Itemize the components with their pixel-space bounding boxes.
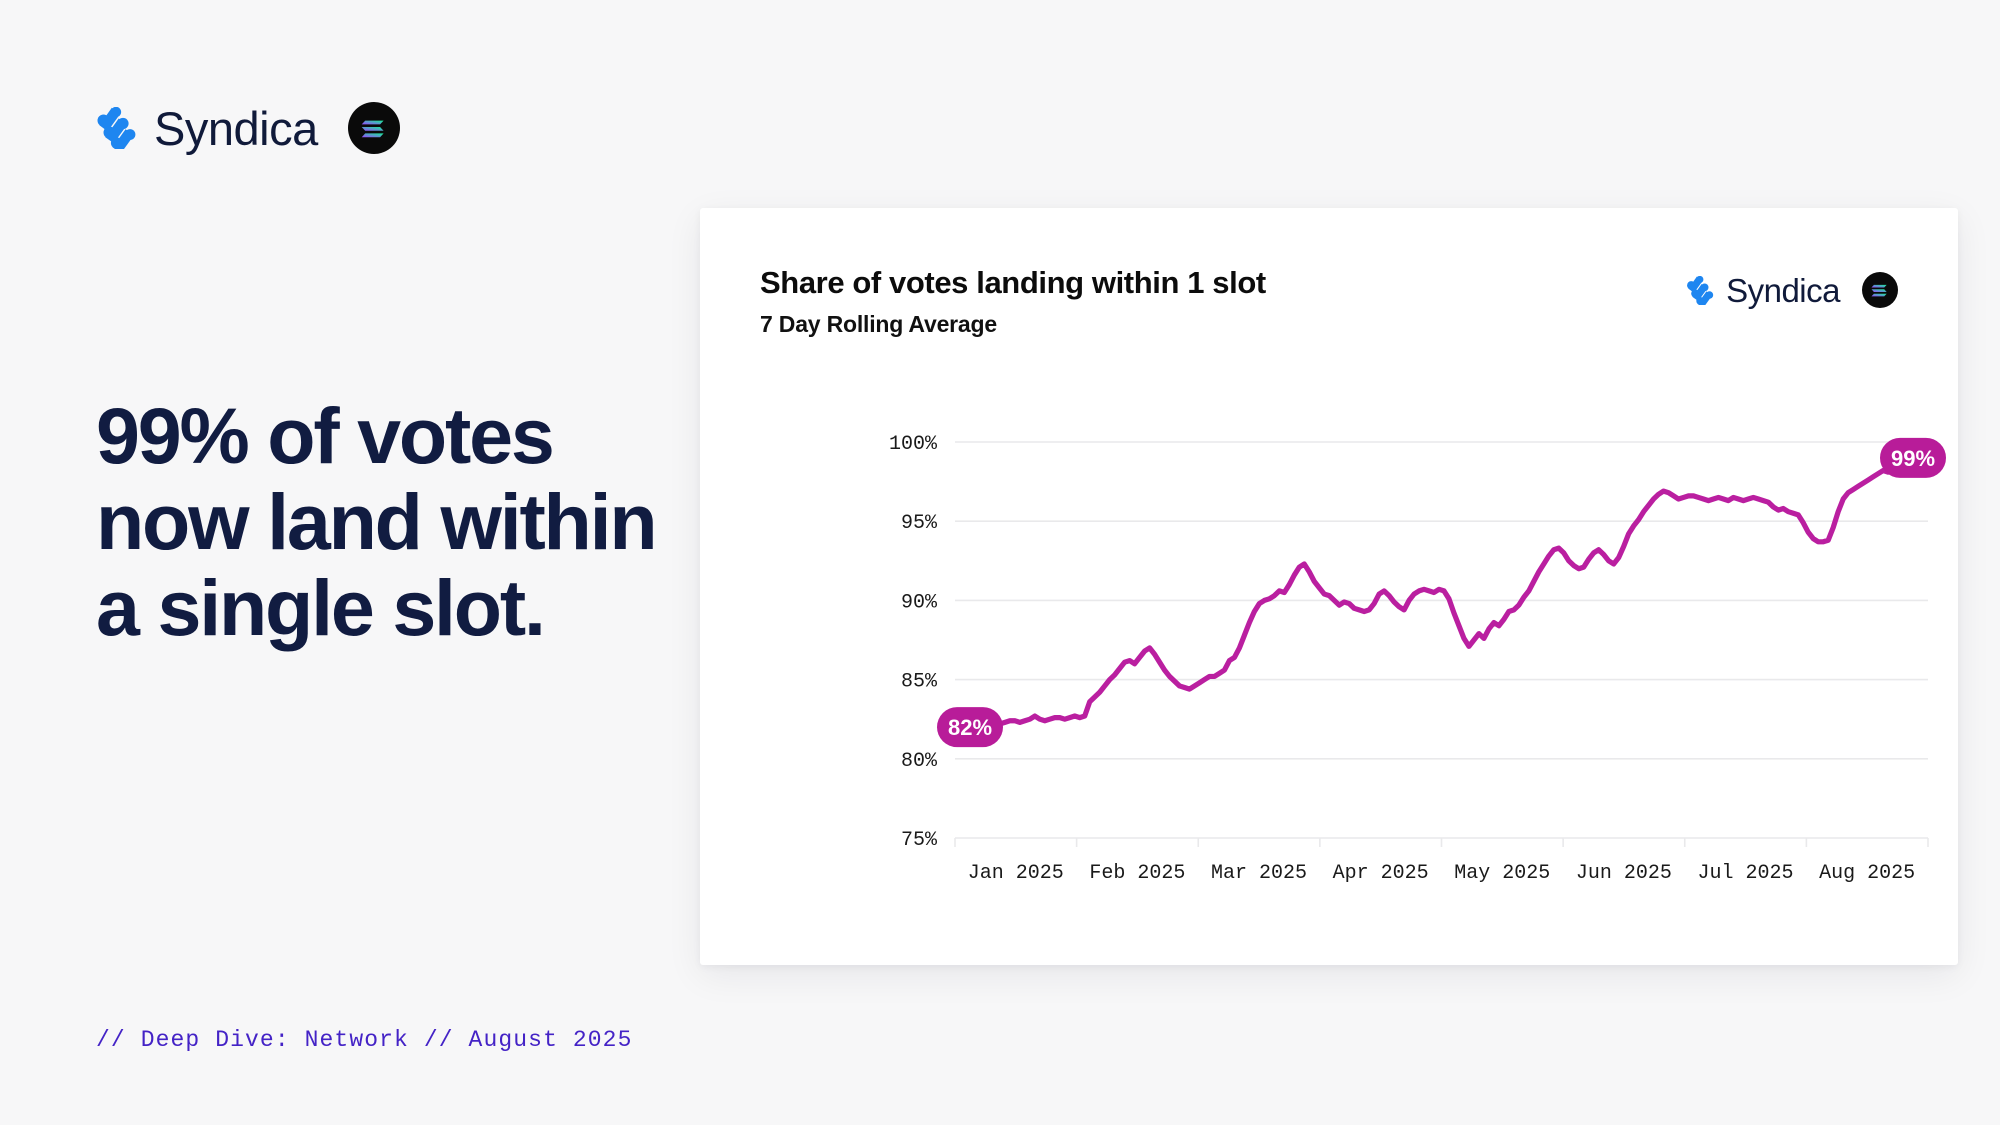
x-axis-ticks: Jan 2025Feb 2025Mar 2025Apr 2025May 2025… (968, 862, 1915, 885)
svg-text:Apr 2025: Apr 2025 (1333, 862, 1429, 885)
svg-text:Feb 2025: Feb 2025 (1089, 862, 1185, 885)
poster-root: Syndica 99% of votes now land within a s… (0, 0, 2000, 1125)
svg-text:Mar 2025: Mar 2025 (1211, 862, 1307, 885)
svg-text:90%: 90% (901, 591, 938, 614)
solana-badge-icon (348, 102, 400, 154)
chart-gridlines (955, 442, 1928, 838)
svg-text:Jun 2025: Jun 2025 (1576, 862, 1672, 885)
data-series-line (955, 458, 1928, 729)
svg-text:Jul 2025: Jul 2025 (1698, 862, 1794, 885)
svg-text:82%: 82% (948, 715, 992, 740)
svg-text:May 2025: May 2025 (1454, 862, 1550, 885)
line-chart: 75%80%85%90%95%100% Jan 2025Feb 2025Mar … (700, 208, 1958, 965)
syndica-lockup: Syndica (96, 105, 318, 152)
svg-text:95%: 95% (901, 512, 938, 535)
syndica-logo-icon (96, 107, 138, 149)
svg-text:85%: 85% (901, 671, 938, 694)
brand-header: Syndica (96, 102, 400, 154)
brand-wordmark: Syndica (154, 105, 318, 152)
svg-text:99%: 99% (1891, 446, 1935, 471)
svg-text:75%: 75% (901, 829, 938, 852)
svg-text:100%: 100% (889, 433, 938, 456)
hero-headline: 99% of votes now land within a single sl… (96, 393, 716, 651)
svg-text:80%: 80% (901, 750, 938, 773)
y-axis-ticks: 75%80%85%90%95%100% (889, 433, 938, 852)
svg-text:Aug 2025: Aug 2025 (1819, 862, 1915, 885)
footer-caption: // Deep Dive: Network // August 2025 (96, 1027, 632, 1053)
svg-text:Jan 2025: Jan 2025 (968, 862, 1064, 885)
chart-card: Share of votes landing within 1 slot 7 D… (700, 208, 1958, 965)
x-axis-tickmarks (955, 838, 1928, 847)
